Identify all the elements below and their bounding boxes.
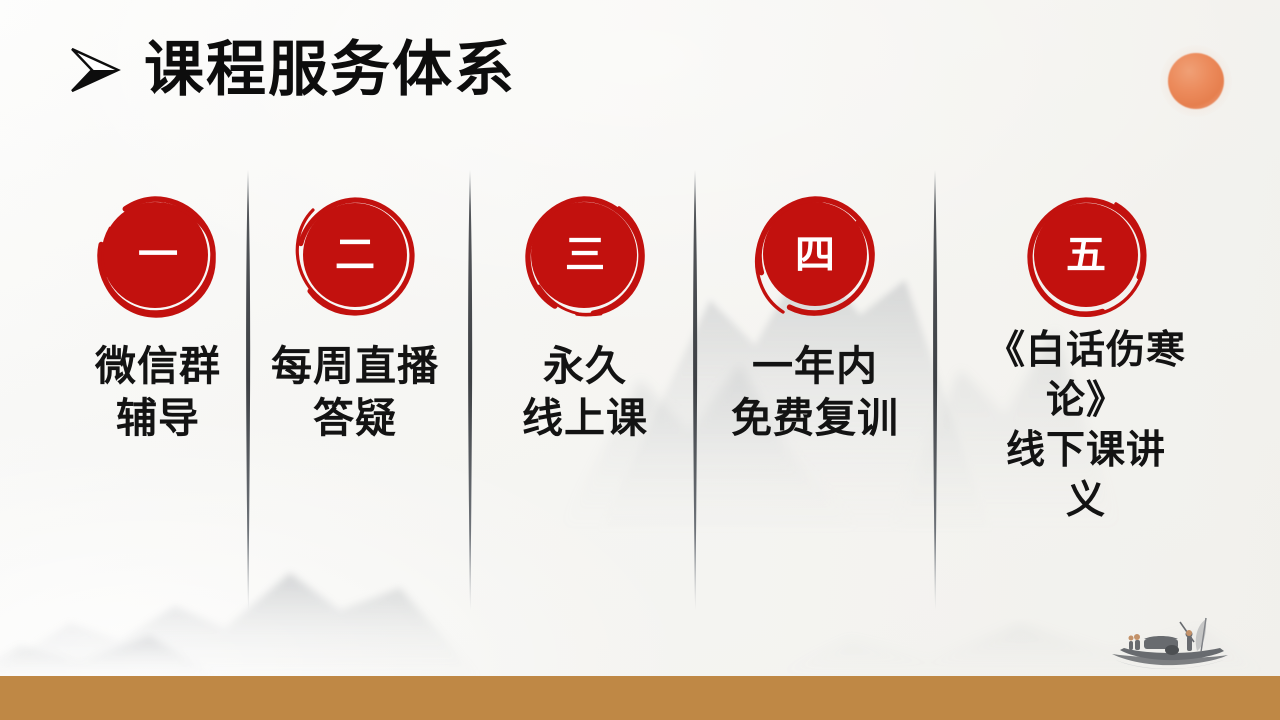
service-column: 三 永久 线上课 xyxy=(475,190,695,445)
service-column: 二 每周直播 答疑 xyxy=(245,190,465,445)
service-label: 《白话伤寒论》 线下课讲 义 xyxy=(950,326,1222,526)
service-label: 每周直播 答疑 xyxy=(245,340,465,445)
content-grid: 一 微信群 辅导 二 每周直播 答疑 xyxy=(0,0,1280,720)
slide-canvas: 课程服务体系 xyxy=(0,0,1280,720)
step-number: 一 xyxy=(92,190,224,322)
brush-divider xyxy=(927,170,943,610)
service-column: 一 微信群 辅导 xyxy=(48,190,268,445)
step-number: 五 xyxy=(1020,190,1152,322)
step-badge: 五 xyxy=(1020,190,1152,322)
step-number: 三 xyxy=(519,190,651,322)
step-badge: 四 xyxy=(749,190,881,322)
service-label: 微信群 辅导 xyxy=(48,340,268,445)
service-label: 一年内 免费复训 xyxy=(705,340,925,445)
boat-icon xyxy=(1102,610,1234,672)
service-column: 五 《白话伤寒论》 线下课讲 义 xyxy=(950,190,1222,526)
step-number: 四 xyxy=(749,190,881,322)
step-badge: 三 xyxy=(519,190,651,322)
service-column: 四 一年内 免费复训 xyxy=(705,190,925,445)
step-badge: 二 xyxy=(289,190,421,322)
step-number: 二 xyxy=(289,190,421,322)
step-badge: 一 xyxy=(92,190,224,322)
bottom-accent-bar xyxy=(0,676,1280,720)
service-label: 永久 线上课 xyxy=(475,340,695,445)
